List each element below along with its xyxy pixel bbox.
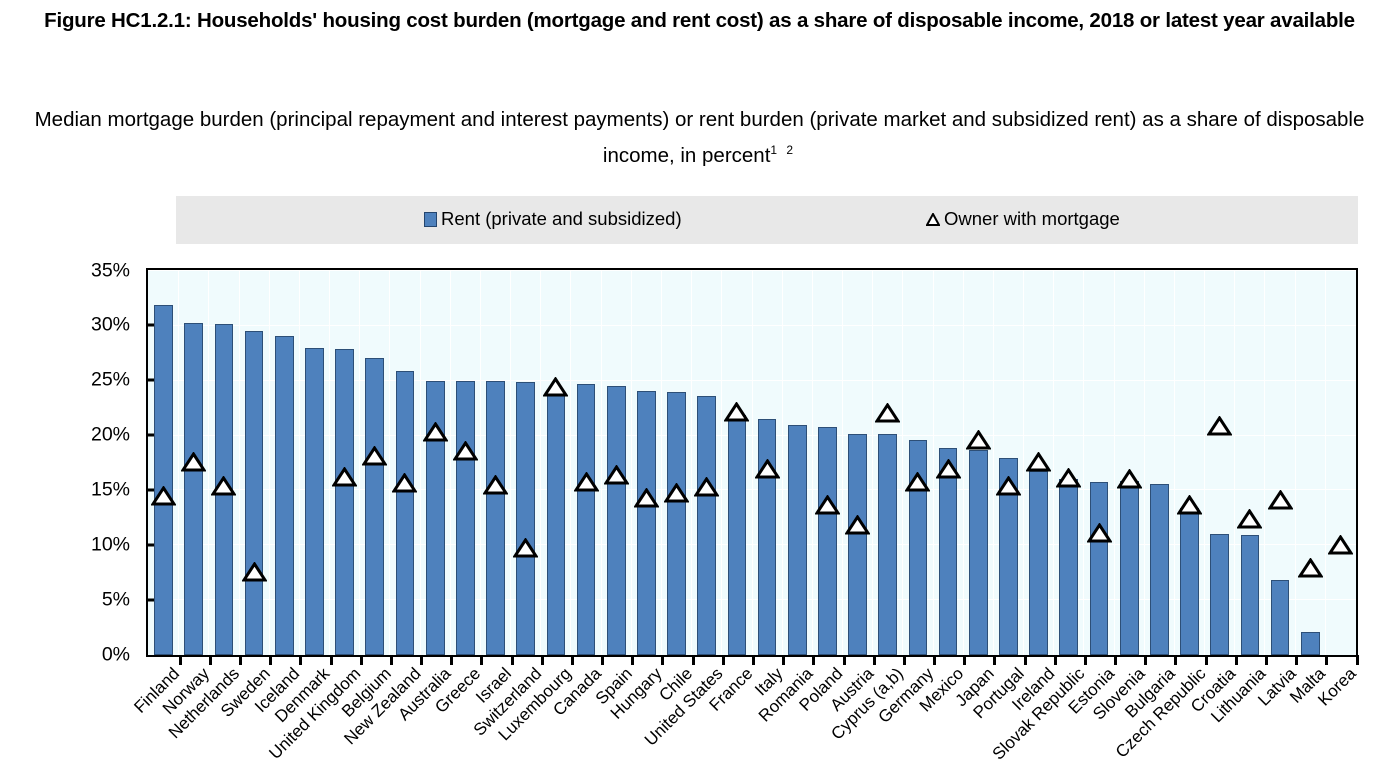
bar-bulgaria[interactable] bbox=[1150, 484, 1169, 655]
rent-swatch-icon bbox=[424, 212, 437, 227]
bar-france[interactable] bbox=[728, 415, 747, 655]
mortgage-marker-switzerland[interactable] bbox=[513, 538, 538, 558]
figure-subtitle: Median mortgage burden (principal repaym… bbox=[0, 104, 1399, 171]
bar-poland[interactable] bbox=[818, 427, 837, 655]
mortgage-marker-new-zealand[interactable] bbox=[392, 473, 417, 493]
bar-united-states[interactable] bbox=[697, 396, 716, 655]
x-axis-labels: FinlandNorwayNetherlandsSwedenIcelandDen… bbox=[0, 660, 1399, 779]
figure-subtitle-text: Median mortgage burden (principal repaym… bbox=[35, 108, 1365, 167]
bar-estonia[interactable] bbox=[1090, 482, 1109, 655]
y-axis-tick-label: 10% bbox=[91, 533, 130, 556]
bar-finland[interactable] bbox=[154, 305, 173, 655]
legend-item-owner[interactable]: Owner with mortgage bbox=[926, 205, 1120, 233]
bar-japan[interactable] bbox=[969, 450, 988, 655]
bar-ireland[interactable] bbox=[1029, 471, 1048, 655]
mortgage-marker-spain[interactable] bbox=[604, 465, 629, 485]
y-axis-tick-label: 35% bbox=[91, 259, 130, 282]
bar-canada[interactable] bbox=[577, 384, 596, 655]
y-axis-tick-label: 20% bbox=[91, 424, 130, 447]
bar-iceland[interactable] bbox=[275, 336, 294, 655]
mortgage-marker-mexico[interactable] bbox=[936, 459, 961, 479]
mortgage-marker-united-kingdom[interactable] bbox=[332, 467, 357, 487]
bar-luxembourg[interactable] bbox=[547, 393, 566, 655]
bar-spain[interactable] bbox=[607, 386, 626, 655]
mortgage-marker-luxembourg[interactable] bbox=[543, 377, 568, 397]
y-axis: 0%5%10%15%20%25%30%35% bbox=[70, 255, 138, 670]
legend-item-rent[interactable]: Rent (private and subsidized) bbox=[424, 205, 682, 233]
bar-new-zealand[interactable] bbox=[396, 371, 415, 655]
bar-slovak-republic[interactable] bbox=[1059, 479, 1078, 655]
mortgage-marker-chile[interactable] bbox=[664, 483, 689, 503]
bar-israel[interactable] bbox=[486, 381, 505, 655]
bar-sweden[interactable] bbox=[245, 331, 264, 655]
mortgage-marker-germany[interactable] bbox=[905, 472, 930, 492]
bar-lithuania[interactable] bbox=[1241, 535, 1260, 655]
footnote-markers: 1 2 bbox=[770, 143, 796, 157]
mortgage-marker-united-states[interactable] bbox=[694, 477, 719, 497]
mortgage-marker-malta[interactable] bbox=[1298, 558, 1323, 578]
mortgage-marker-korea[interactable] bbox=[1328, 535, 1353, 555]
mortgage-marker-croatia[interactable] bbox=[1207, 416, 1232, 436]
y-axis-tick-label: 25% bbox=[91, 369, 130, 392]
mortgage-marker-ireland[interactable] bbox=[1026, 452, 1051, 472]
bar-malta[interactable] bbox=[1301, 632, 1320, 655]
mortgage-marker-hungary[interactable] bbox=[634, 488, 659, 508]
mortgage-marker-japan[interactable] bbox=[966, 430, 991, 450]
bar-czech-republic[interactable] bbox=[1180, 508, 1199, 655]
bar-hungary[interactable] bbox=[637, 391, 656, 655]
bar-greece[interactable] bbox=[456, 381, 475, 655]
chart-legend: Rent (private and subsidized) Owner with… bbox=[176, 196, 1358, 244]
mortgage-marker-latvia[interactable] bbox=[1268, 490, 1293, 510]
bar-cyprus-a-b[interactable] bbox=[878, 434, 897, 655]
mortgage-marker-finland[interactable] bbox=[151, 486, 176, 506]
mortgage-marker-lithuania[interactable] bbox=[1237, 509, 1262, 529]
mortgage-marker-belgium[interactable] bbox=[362, 446, 387, 466]
page-title: Figure HC1.2.1: Households' housing cost… bbox=[0, 6, 1399, 35]
mortgage-marker-australia[interactable] bbox=[423, 422, 448, 442]
bar-italy[interactable] bbox=[758, 419, 777, 655]
triangle-marker-icon bbox=[926, 213, 940, 226]
mortgage-marker-israel[interactable] bbox=[483, 475, 508, 495]
mortgage-marker-austria[interactable] bbox=[845, 515, 870, 535]
mortgage-marker-italy[interactable] bbox=[755, 459, 780, 479]
mortgage-marker-netherlands[interactable] bbox=[211, 476, 236, 496]
y-axis-tick-label: 30% bbox=[91, 314, 130, 337]
mortgage-marker-slovak-republic[interactable] bbox=[1056, 468, 1081, 488]
bar-romania[interactable] bbox=[788, 425, 807, 655]
bar-norway[interactable] bbox=[184, 323, 203, 655]
mortgage-marker-portugal[interactable] bbox=[996, 476, 1021, 496]
mortgage-marker-cyprus-a-b[interactable] bbox=[875, 403, 900, 423]
bar-chile[interactable] bbox=[667, 392, 686, 655]
bar-slovenia[interactable] bbox=[1120, 481, 1139, 655]
mortgage-marker-norway[interactable] bbox=[181, 452, 206, 472]
mortgage-marker-france[interactable] bbox=[724, 402, 749, 422]
bar-latvia[interactable] bbox=[1271, 580, 1290, 655]
y-axis-tick-label: 5% bbox=[102, 588, 130, 611]
legend-label-rent: Rent (private and subsidized) bbox=[441, 210, 682, 228]
mortgage-marker-greece[interactable] bbox=[453, 441, 478, 461]
mortgage-marker-estonia[interactable] bbox=[1087, 523, 1112, 543]
bar-switzerland[interactable] bbox=[516, 382, 535, 655]
chart-series-layer bbox=[146, 268, 1358, 657]
mortgage-marker-czech-republic[interactable] bbox=[1177, 495, 1202, 515]
bar-belgium[interactable] bbox=[365, 358, 384, 655]
legend-label-owner: Owner with mortgage bbox=[944, 210, 1120, 228]
bar-austria[interactable] bbox=[848, 434, 867, 655]
bar-united-kingdom[interactable] bbox=[335, 349, 354, 655]
bar-denmark[interactable] bbox=[305, 348, 324, 655]
bar-croatia[interactable] bbox=[1210, 534, 1229, 655]
mortgage-marker-canada[interactable] bbox=[574, 472, 599, 492]
mortgage-marker-sweden[interactable] bbox=[242, 562, 267, 582]
mortgage-marker-slovenia[interactable] bbox=[1117, 469, 1142, 489]
mortgage-marker-poland[interactable] bbox=[815, 495, 840, 515]
y-axis-tick-label: 15% bbox=[91, 478, 130, 501]
